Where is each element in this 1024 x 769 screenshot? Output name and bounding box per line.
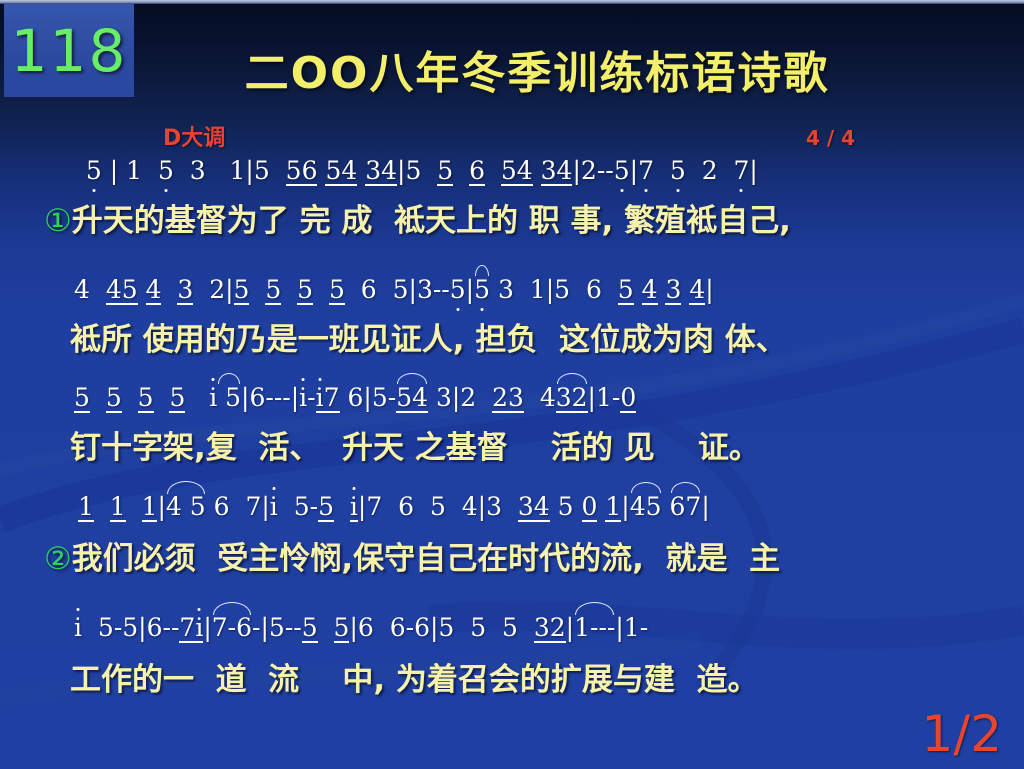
music-system-1: 5 | 1 5 3 1|5 56 54 34|5 5 6 54 34|2--5|…	[0, 158, 1024, 240]
top-divider-rule	[0, 0, 1024, 4]
lyrics-row-3: 钉十字架,复 活、 升天 之基督 活的 见 证。	[0, 422, 1024, 467]
lyrics-row-4: ②我们必须 受主怜悯,保守自己在时代的流, 就是 主	[0, 533, 1024, 578]
notation-row-5: i 5-5|6--7i|7-6-|5--5 5|6 6-6|5 5 5 32|1…	[0, 615, 1024, 643]
time-signature-label: 4 / 4	[806, 126, 855, 150]
slide-canvas: 118 二OO八年冬季训练标语诗歌 D大调 4 / 4 5 | 1 5 3 1|…	[0, 0, 1024, 769]
notation-row-4: 1 1 1|4 5 6 7|i 5-5 i|7 6 5 4|3 34 5 0 1…	[0, 494, 1024, 522]
page-title: 二OO八年冬季训练标语诗歌	[0, 37, 1024, 101]
lyrics-text-4: 我们必须 受主怜悯,保守自己在时代的流, 就是 主	[72, 541, 780, 577]
music-system-3: 5 5 5 5 i 5|6---|i-i7 6|5-54 3|2 23 432|…	[0, 385, 1024, 467]
music-system-2: 4 45 4 3 2|5 5 5 5 6 5|3--5|5 3 1|5 6 5 …	[0, 277, 1024, 359]
notation-row-3: 5 5 5 5 i 5|6---|i-i7 6|5-54 3|2 23 432|…	[0, 385, 1024, 413]
verse-marker-1: ①	[44, 203, 72, 239]
notation-row-2: 4 45 4 3 2|5 5 5 5 6 5|3--5|5 3 1|5 6 5 …	[0, 277, 1024, 305]
lyrics-text-5: 工作的一 道 流 中, 为着召会的扩展与建 造。	[70, 662, 759, 698]
lyrics-row-1: ①升天的基督为了 完 成 袛天上的 职 事, 繁殖袛自己,	[0, 195, 1024, 240]
lyrics-row-2: 袛所 使用的乃是一班见证人, 担负 这位成为肉 体、	[0, 314, 1024, 359]
verse-marker-2: ②	[44, 541, 72, 577]
lyrics-text-1: 升天的基督为了 完 成 袛天上的 职 事, 繁殖袛自己,	[72, 203, 791, 239]
lyrics-row-5: 工作的一 道 流 中, 为着召会的扩展与建 造。	[0, 654, 1024, 699]
key-signature-label: D大调	[163, 120, 225, 152]
music-system-4: 1 1 1|4 5 6 7|i 5-5 i|7 6 5 4|3 34 5 0 1…	[0, 494, 1024, 578]
music-system-5: i 5-5|6--7i|7-6-|5--5 5|6 6-6|5 5 5 32|1…	[0, 615, 1024, 699]
lyrics-text-2: 袛所 使用的乃是一班见证人, 担负 这位成为肉 体、	[70, 322, 787, 358]
lyrics-text-3: 钉十字架,复 活、 升天 之基督 活的 见 证。	[70, 430, 760, 466]
notation-row-1: 5 | 1 5 3 1|5 56 54 34|5 5 6 54 34|2--5|…	[0, 158, 1024, 186]
page-indicator: 1/2	[922, 705, 1002, 763]
